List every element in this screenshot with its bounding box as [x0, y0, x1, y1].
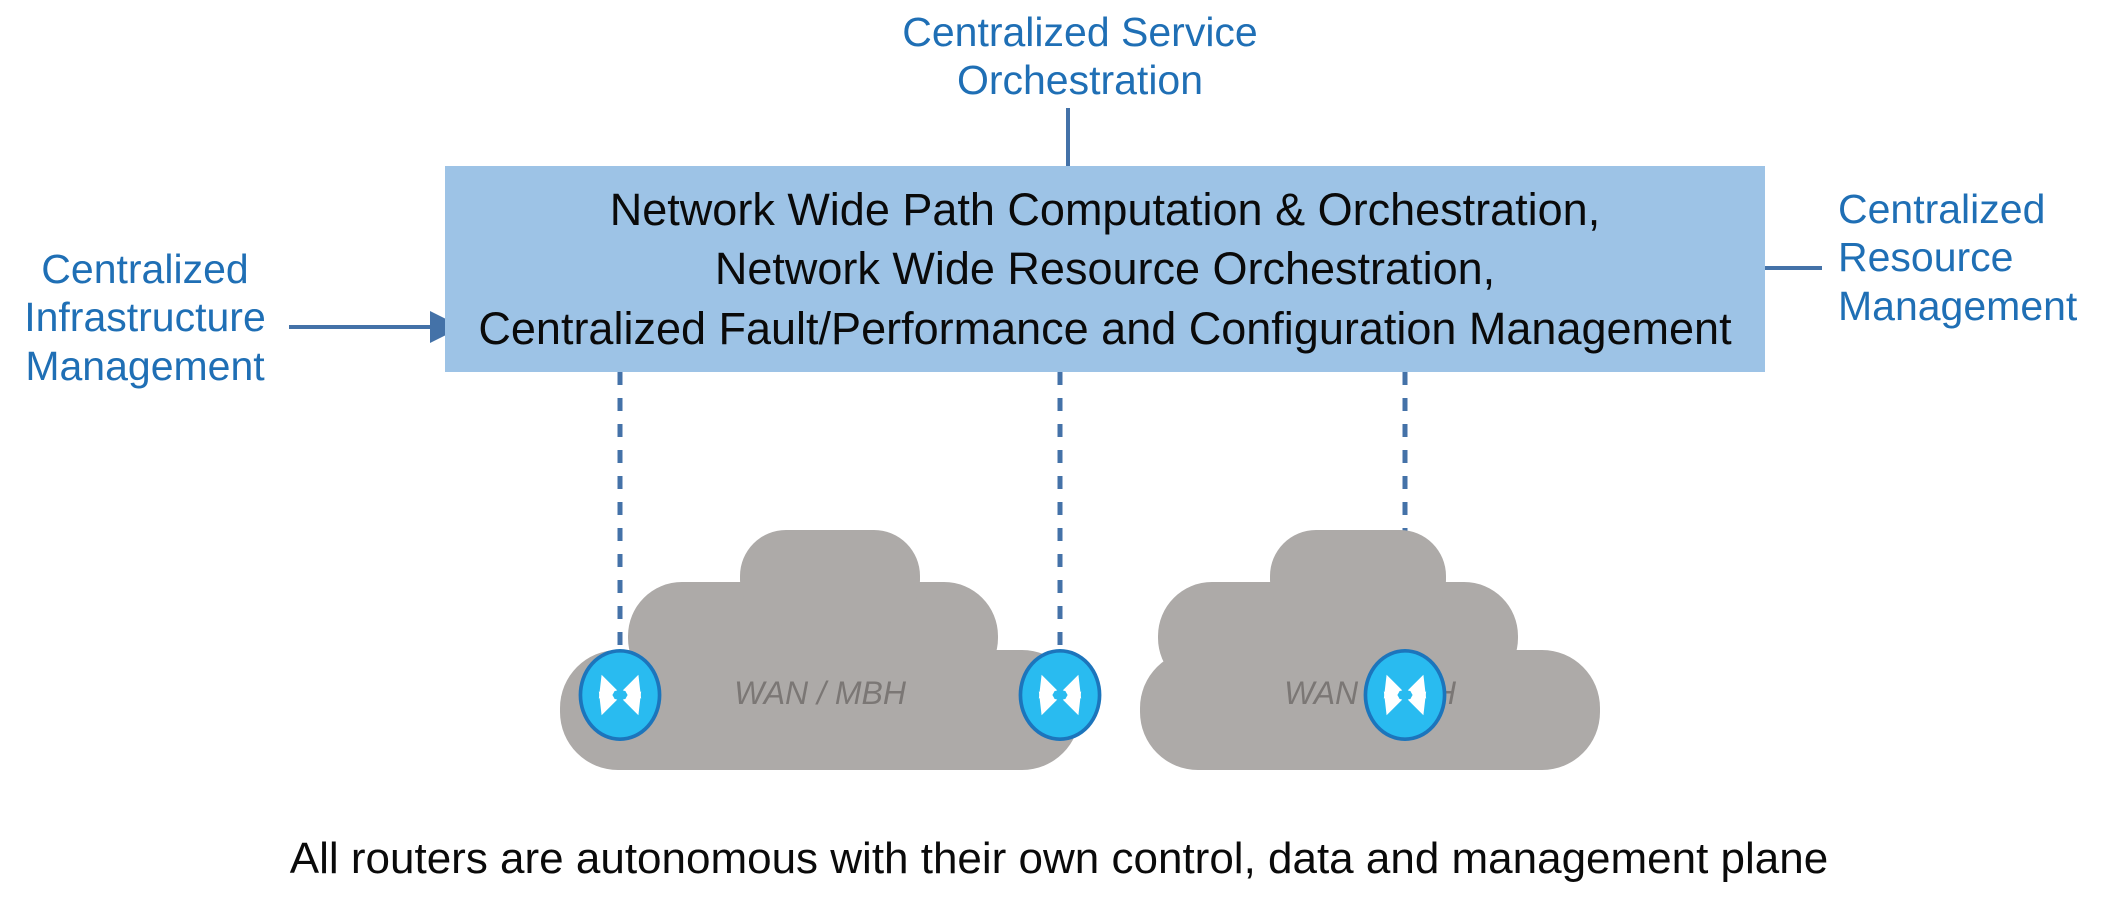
diagram-caption: All routers are autonomous with their ow… [0, 834, 2118, 884]
controller-line-3: Centralized Fault/Performance and Config… [478, 299, 1731, 358]
callout-centralized-service-orchestration: Centralized Service Orchestration [880, 8, 1280, 105]
connector-layer [0, 0, 2118, 920]
callout-centralized-resource-management: Centralized Resource Management [1838, 185, 2118, 330]
router-icon[interactable] [574, 649, 666, 741]
callout-centralized-infrastructure-management: Centralized Infrastructure Management [0, 245, 290, 390]
router-icon[interactable] [1014, 649, 1106, 741]
diagram-canvas: Centralized Service Orchestration Centra… [0, 0, 2118, 920]
controller-line-1: Network Wide Path Computation & Orchestr… [610, 180, 1600, 239]
controller-line-2: Network Wide Resource Orchestration, [715, 239, 1495, 298]
centralized-controller-box: Network Wide Path Computation & Orchestr… [445, 166, 1765, 372]
router-icon[interactable] [1359, 649, 1451, 741]
